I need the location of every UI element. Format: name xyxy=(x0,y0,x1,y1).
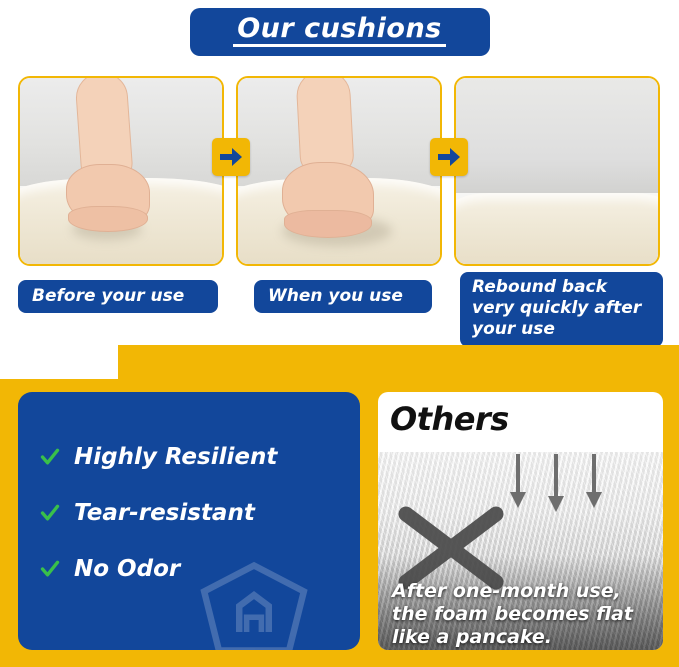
check-icon xyxy=(40,447,60,467)
feature-item-1: Tear-resistant xyxy=(40,500,255,526)
photo-when-you-use xyxy=(236,76,442,266)
others-caption: After one-month use, the foam becomes fl… xyxy=(392,580,658,649)
feature-item-0: Highly Resilient xyxy=(40,444,277,470)
photo2-leg xyxy=(295,76,354,175)
page-title-bar: Our cushions xyxy=(0,8,679,56)
feature-label-0: Highly Resilient xyxy=(74,444,277,470)
arrow-right-2-badge xyxy=(430,138,468,176)
x-cross-icon xyxy=(392,502,512,592)
photo2-toes xyxy=(284,210,372,238)
check-icon xyxy=(40,503,60,523)
photo-rebound xyxy=(454,76,660,266)
caption-when-you-use: When you use xyxy=(254,280,432,313)
photo3-wall xyxy=(456,78,658,193)
arrow-right-icon xyxy=(220,148,242,166)
arrow-right-1-badge xyxy=(212,138,250,176)
photo3-foam-block-restored xyxy=(454,193,660,266)
arrow-right-icon xyxy=(438,148,460,166)
feature-label-2: No Odor xyxy=(74,556,180,582)
photo1-toes xyxy=(68,206,148,232)
caption-before-your-use: Before your use xyxy=(18,280,218,313)
others-title: Others xyxy=(390,400,509,438)
page-title: Our cushions xyxy=(233,15,446,47)
feature-label-1: Tear-resistant xyxy=(74,500,255,526)
yellow-panel-notch xyxy=(0,345,118,379)
caption-rebound-back: Rebound back very quickly after your use xyxy=(460,272,663,347)
title-pill: Our cushions xyxy=(190,8,490,56)
feature-item-2: No Odor xyxy=(40,556,180,582)
photo-before-use xyxy=(18,76,224,266)
check-icon xyxy=(40,559,60,579)
photo-row xyxy=(18,76,663,266)
others-card: Others After one-month use, the foam bec… xyxy=(378,392,663,650)
house-watermark-icon xyxy=(198,560,310,650)
pressure-arrows-icon xyxy=(508,454,628,512)
